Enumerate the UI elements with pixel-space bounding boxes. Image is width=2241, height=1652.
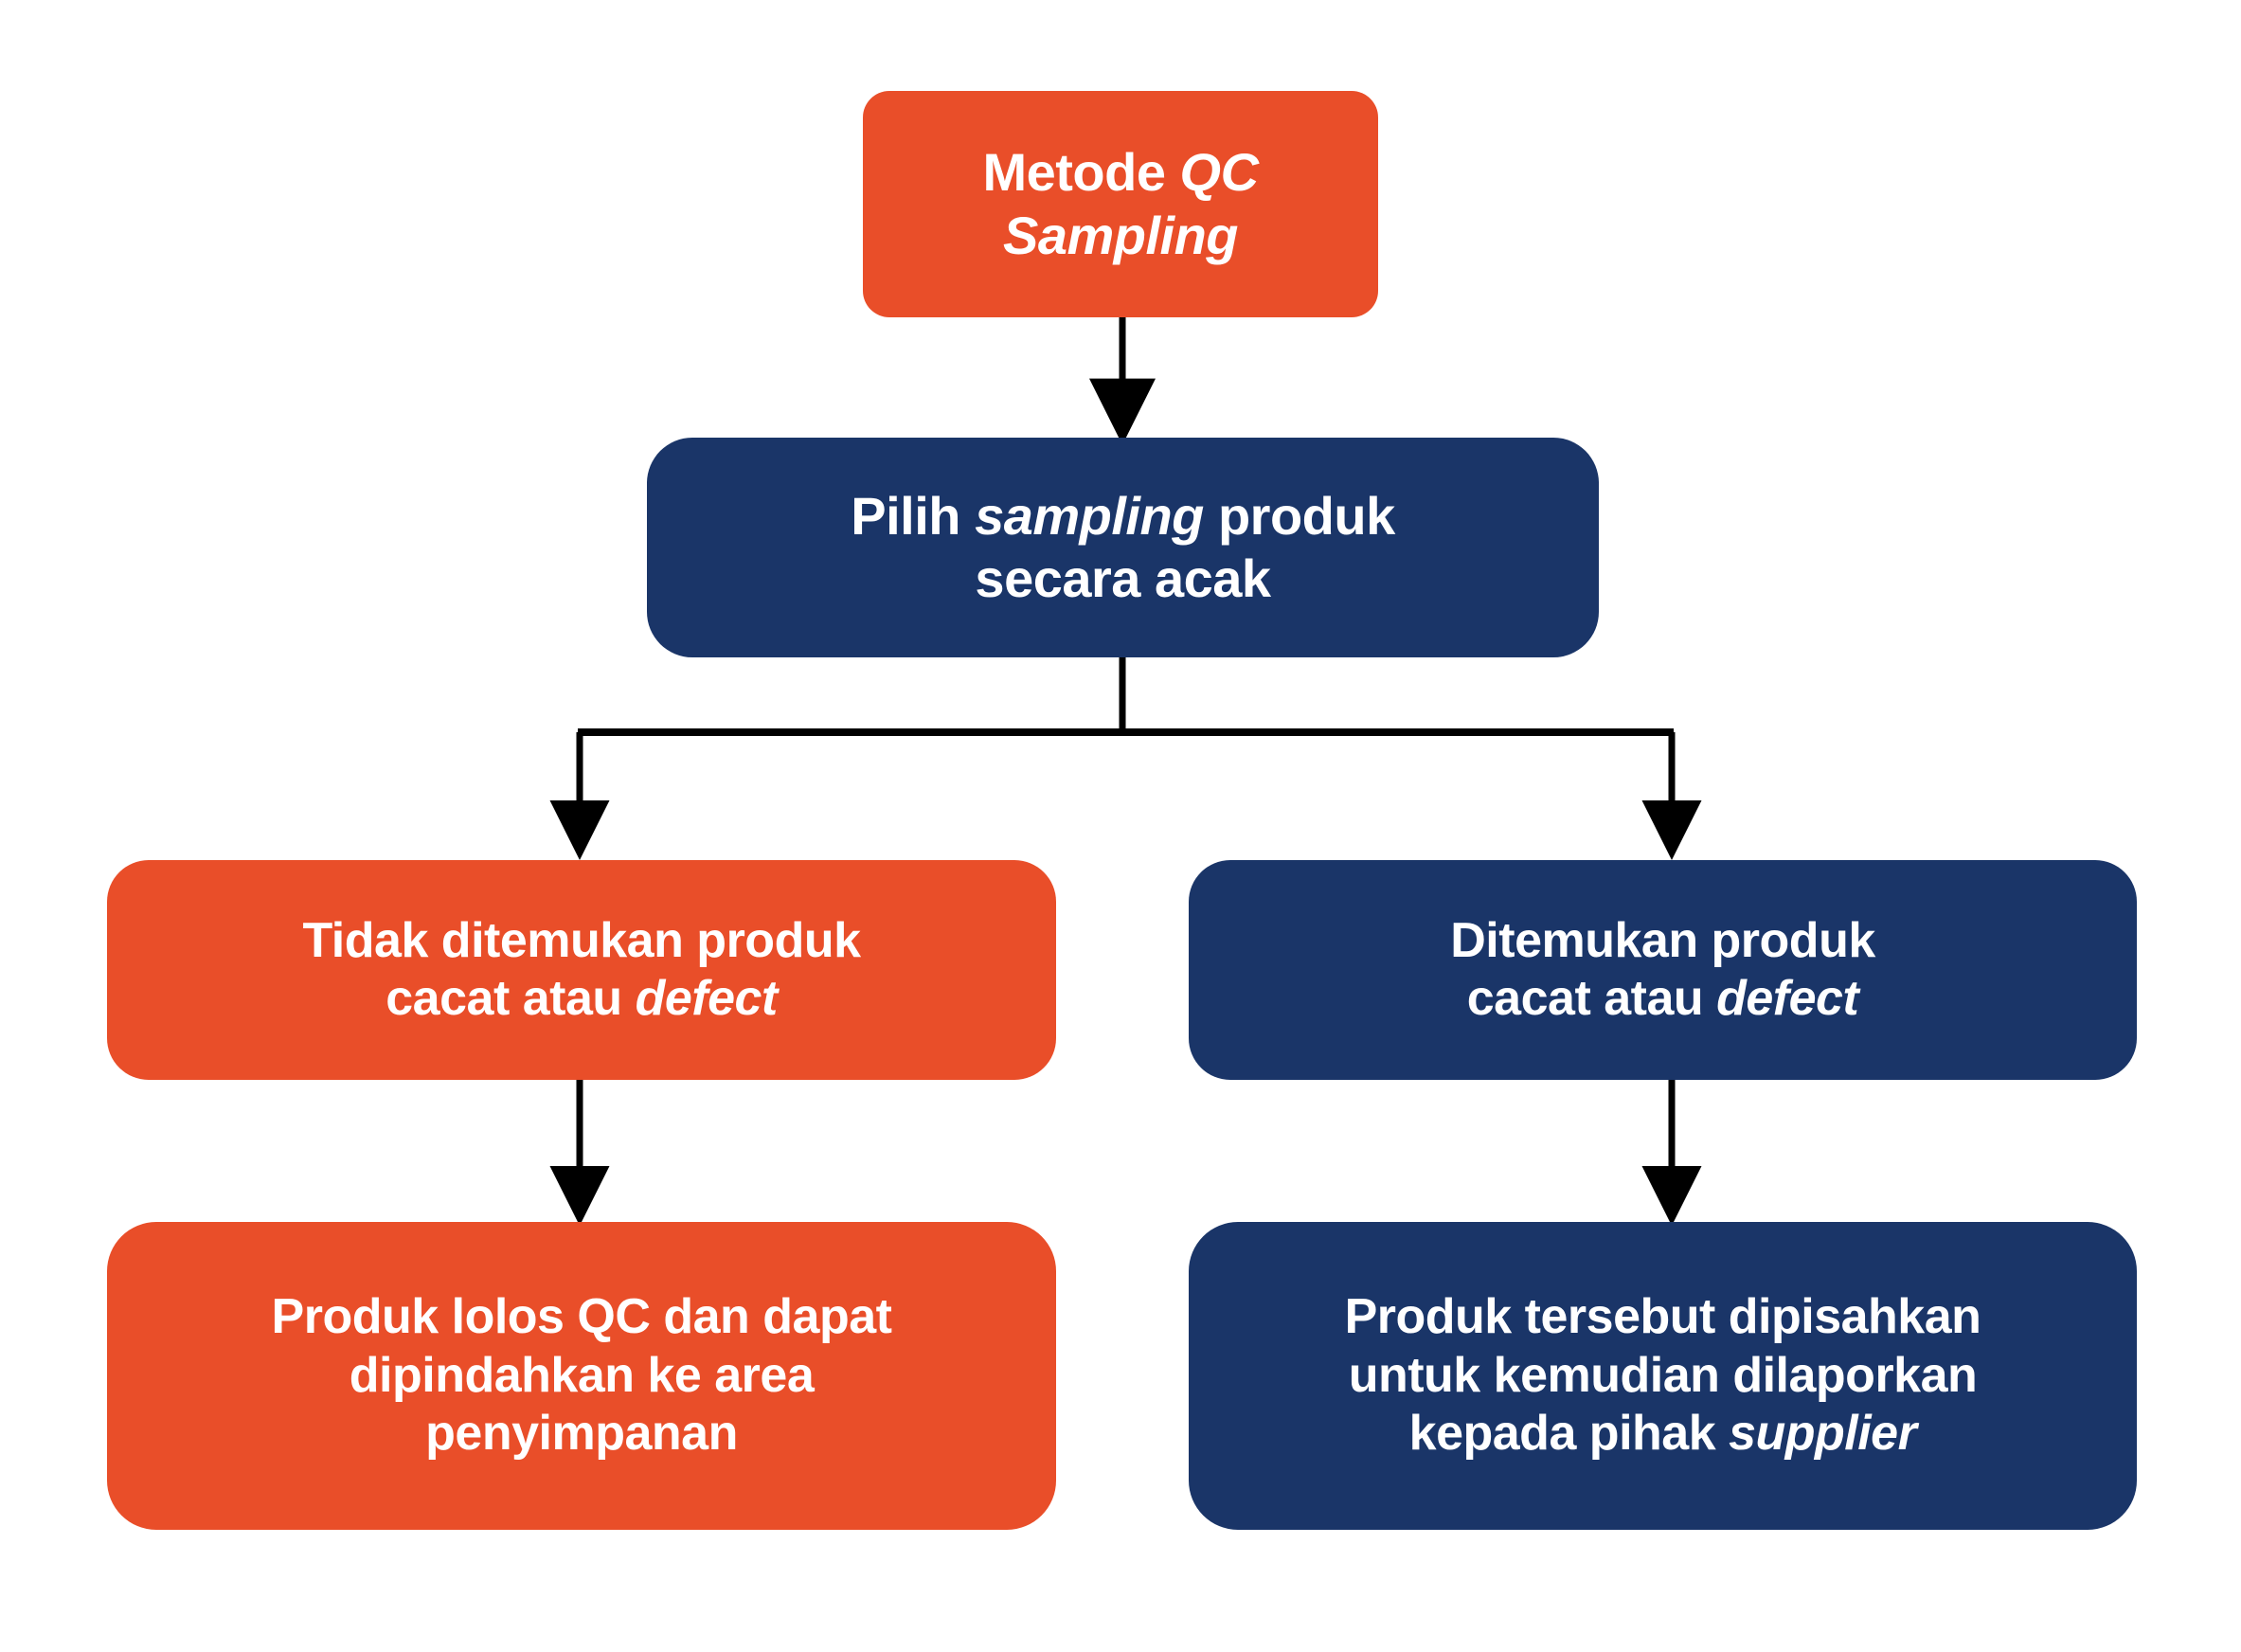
node-label: Pilih sampling produk secara acak (672, 485, 1574, 610)
edge-sampling-branch-bus (578, 657, 1674, 734)
node-label: Produk lolos QC dan dapat dipindahkan ke… (132, 1288, 1031, 1463)
flowchart-canvas: Metode QC Sampling Pilih sampling produk… (0, 0, 2241, 1652)
italic-term: supplier (1729, 1406, 1916, 1461)
italic-term: QC (1180, 142, 1259, 202)
node-pilih-sampling-produk-secara-acak[interactable]: Pilih sampling produk secara acak (647, 438, 1599, 657)
italic-term: sampling (975, 486, 1204, 546)
node-produk-lolos-qc[interactable]: Produk lolos QC dan dapat dipindahkan ke… (107, 1222, 1056, 1530)
node-label: Produk tersebut dipisahkan untuk kemudia… (1213, 1288, 2112, 1463)
italic-term: defect (636, 971, 778, 1026)
node-label: Metode QC Sampling (887, 141, 1354, 266)
node-produk-dipisahkan-dilaporkan-supplier[interactable]: Produk tersebut dipisahkan untuk kemudia… (1189, 1222, 2137, 1530)
node-ditemukan-produk-cacat[interactable]: Ditemukan produk cacat atau defect (1189, 860, 2137, 1080)
italic-term: Sampling (1003, 206, 1238, 265)
node-label: Tidak ditemukan produk cacat atau defect (132, 912, 1031, 1029)
node-metode-qc-sampling[interactable]: Metode QC Sampling (863, 91, 1378, 317)
node-label: Ditemukan produk cacat atau defect (1213, 912, 2112, 1029)
italic-term: defect (1716, 971, 1858, 1026)
node-tidak-ditemukan-produk-cacat[interactable]: Tidak ditemukan produk cacat atau defect (107, 860, 1056, 1080)
